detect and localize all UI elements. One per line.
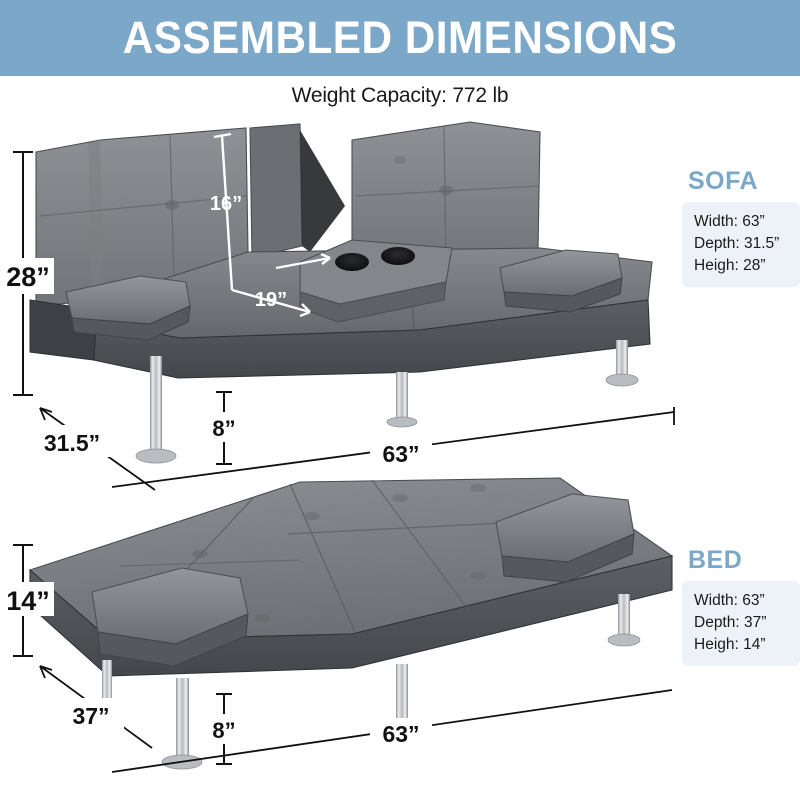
tuft-button bbox=[470, 572, 486, 580]
cup-holder-right bbox=[381, 247, 415, 265]
tuft-button bbox=[304, 512, 320, 520]
dimension-label-sofa-leg: 8” bbox=[212, 416, 235, 441]
dimension-sofa-leg: 8” bbox=[203, 392, 245, 464]
sofa-illustration bbox=[30, 122, 652, 463]
tuft-button bbox=[394, 156, 406, 164]
dimension-bed-height: 14” bbox=[2, 545, 54, 656]
tuft-button bbox=[392, 494, 408, 502]
bed-spec-width: Width: 63” bbox=[694, 590, 790, 612]
dimension-label-bed-depth: 37” bbox=[72, 703, 109, 729]
bed-leg-center bbox=[162, 678, 202, 769]
furniture-diagram: 28” 16” 19” 8” bbox=[0, 0, 800, 800]
console-shadow-gap bbox=[300, 130, 345, 252]
cup-holder-left bbox=[335, 253, 369, 271]
dimension-label-bed-width: 63” bbox=[382, 721, 419, 747]
tuft-button bbox=[192, 550, 208, 558]
tuft-button bbox=[470, 484, 486, 492]
sofa-spec-depth: Depth: 31.5” bbox=[694, 233, 790, 255]
dimension-bed-depth: 37” bbox=[40, 666, 152, 748]
dimension-bed-width: 63” bbox=[112, 690, 672, 772]
dimension-label-console-width: 19” bbox=[255, 289, 287, 311]
dimension-label-console-height: 16” bbox=[210, 193, 242, 215]
tuft-button bbox=[439, 185, 453, 195]
dimension-label-sofa-depth: 31.5” bbox=[44, 430, 100, 456]
sofa-leg-center bbox=[387, 372, 417, 427]
sofa-spec-height: Heigh: 28” bbox=[694, 255, 790, 277]
dimension-illustration-stage: 28” 16” 19” 8” bbox=[0, 0, 800, 800]
tuft-button bbox=[254, 614, 270, 622]
dimension-label-sofa-width: 63” bbox=[382, 441, 419, 467]
dimension-sofa-depth: 31.5” bbox=[28, 408, 155, 490]
sofa-specs-box: Width: 63” Depth: 31.5” Heigh: 28” bbox=[682, 202, 800, 287]
bed-section-label: BED bbox=[688, 546, 742, 575]
sofa-spec-width: Width: 63” bbox=[694, 211, 790, 233]
bed-spec-depth: Depth: 37” bbox=[694, 612, 790, 634]
bed-spec-height: Heigh: 14” bbox=[694, 634, 790, 656]
sofa-center-panel bbox=[250, 124, 302, 258]
bed-illustration bbox=[30, 478, 672, 769]
sofa-section-label: SOFA bbox=[688, 167, 758, 196]
dimension-label-bed-height: 14” bbox=[6, 586, 50, 616]
tuft-button bbox=[165, 200, 179, 210]
bed-specs-box: Width: 63” Depth: 37” Heigh: 14” bbox=[682, 581, 800, 666]
dimension-label-sofa-height: 28” bbox=[6, 262, 50, 292]
dimension-label-bed-leg: 8” bbox=[212, 718, 235, 743]
